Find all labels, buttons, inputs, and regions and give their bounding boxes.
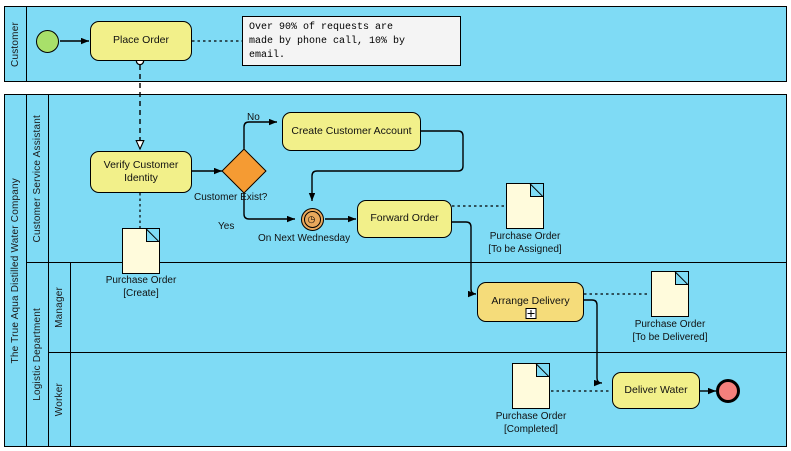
start-event[interactable] bbox=[36, 30, 59, 53]
lane-label-manager: Manager bbox=[54, 287, 65, 328]
lane-header-customer-service-assistant[interactable]: Customer Service Assistant bbox=[27, 95, 49, 262]
clock-icon: ◷ bbox=[308, 215, 316, 224]
customer-pool-label: Customer bbox=[10, 22, 21, 67]
task-deliver-water-label: Deliver Water bbox=[624, 384, 687, 397]
task-create-customer-account-label: Create Customer Account bbox=[291, 125, 411, 138]
lane-label-worker: Worker bbox=[54, 383, 65, 416]
po-completed-state: [Completed] bbox=[504, 424, 558, 435]
data-object-purchase-order-completed-label: Purchase Order [Completed] bbox=[479, 410, 583, 436]
customer-pool-header[interactable]: Customer bbox=[5, 7, 27, 81]
task-create-customer-account[interactable]: Create Customer Account bbox=[282, 112, 421, 151]
end-event[interactable] bbox=[716, 379, 740, 403]
task-forward-order-label: Forward Order bbox=[370, 212, 438, 225]
data-object-purchase-order-to-be-assigned-label: Purchase Order [To be Assigned] bbox=[470, 230, 580, 256]
timer-event-label: On Next Wednesday bbox=[258, 233, 350, 244]
data-object-purchase-order-to-be-delivered[interactable] bbox=[651, 271, 689, 317]
lane-label-customer-service-assistant: Customer Service Assistant bbox=[32, 115, 43, 242]
task-arrange-delivery-label: Arrange Delivery bbox=[491, 295, 569, 308]
lane-header-worker[interactable]: Worker bbox=[49, 352, 71, 446]
lane-label-logistic-department: Logistic Department bbox=[32, 308, 43, 401]
document-fold-icon bbox=[675, 272, 688, 285]
task-place-order[interactable]: Place Order bbox=[90, 21, 192, 61]
task-place-order-label: Place Order bbox=[113, 34, 169, 47]
data-object-purchase-order-to-be-delivered-label: Purchase Order [To be Delivered] bbox=[612, 318, 728, 344]
document-fold-icon bbox=[536, 364, 549, 377]
task-forward-order[interactable]: Forward Order bbox=[357, 200, 452, 238]
subprocess-expand-icon[interactable] bbox=[525, 308, 536, 319]
document-fold-icon bbox=[530, 184, 543, 197]
po-assigned-title: Purchase Order bbox=[490, 231, 561, 242]
annotation-request-channels: Over 90% of requests are made by phone c… bbox=[242, 16, 461, 66]
po-assigned-state: [To be Assigned] bbox=[488, 244, 561, 255]
task-arrange-delivery[interactable]: Arrange Delivery bbox=[477, 282, 584, 322]
bpmn-diagram-canvas: Customer The True Aqua Distilled Water C… bbox=[0, 0, 791, 451]
data-object-purchase-order-create[interactable] bbox=[122, 228, 160, 274]
po-create-title: Purchase Order bbox=[106, 275, 177, 286]
task-verify-customer-identity[interactable]: Verify Customer Identity bbox=[90, 151, 192, 193]
lane-header-manager[interactable]: Manager bbox=[49, 262, 71, 352]
po-completed-title: Purchase Order bbox=[496, 411, 567, 422]
task-verify-customer-identity-label: Verify Customer Identity bbox=[96, 159, 186, 185]
po-delivered-state: [To be Delivered] bbox=[632, 332, 707, 343]
data-object-purchase-order-create-label: Purchase Order [Create] bbox=[91, 274, 191, 300]
document-fold-icon bbox=[146, 229, 159, 242]
flow-label-no: No bbox=[247, 112, 260, 123]
flow-label-yes: Yes bbox=[218, 221, 234, 232]
gateway-customer-exist-label: Customer Exist? bbox=[194, 192, 267, 203]
task-deliver-water[interactable]: Deliver Water bbox=[612, 372, 700, 409]
data-object-purchase-order-to-be-assigned[interactable] bbox=[506, 183, 544, 229]
data-object-purchase-order-completed[interactable] bbox=[512, 363, 550, 409]
company-pool-header[interactable]: The True Aqua Distilled Water Company bbox=[5, 95, 27, 446]
po-create-state: [Create] bbox=[123, 288, 159, 299]
po-delivered-title: Purchase Order bbox=[635, 319, 706, 330]
company-pool-label: The True Aqua Distilled Water Company bbox=[10, 178, 21, 363]
lane-header-logistic-department[interactable]: Logistic Department bbox=[27, 262, 49, 446]
